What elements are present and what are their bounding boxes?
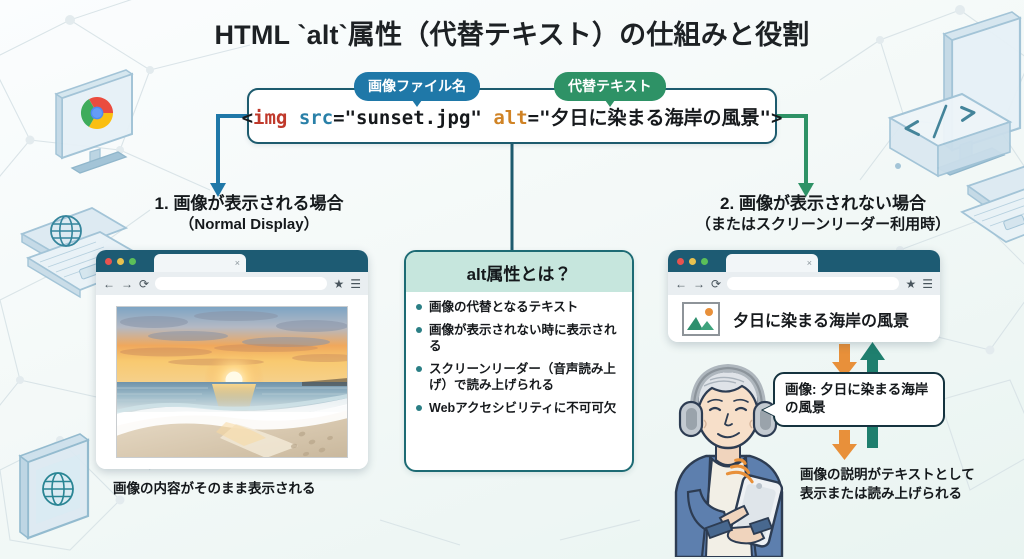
code-space-2 (482, 107, 493, 129)
sunset-beach-photo (116, 306, 348, 458)
reload-icon[interactable]: ⟳ (711, 278, 721, 290)
caption-right: 画像の説明がテキストとして 表示または読み上げられる (800, 466, 975, 503)
menu-icon[interactable]: ☰ (922, 278, 933, 290)
back-icon[interactable]: ← (675, 278, 687, 290)
decor-monitor-chrome (56, 70, 132, 173)
section-right-line2: （またはスクリーンリーダー利用時） (628, 215, 1018, 235)
browser-tab-left[interactable]: × (154, 254, 246, 272)
code-snippet-card: <img src="sunset.jpg" alt="夕日に染まる海岸の風景"> (247, 88, 777, 144)
bookmark-star-icon[interactable]: ★ (333, 278, 344, 290)
decor-code-box (890, 94, 1010, 176)
alt-text-rendered: 夕日に染まる海岸の風景 (733, 307, 909, 331)
window-minimize-dot[interactable] (117, 258, 124, 265)
alt-definition-list: 画像の代替となるテキスト 画像が表示されない時に表示される スクリーンリーダー（… (406, 292, 632, 416)
address-bar[interactable] (727, 277, 899, 290)
browser-toolbar-right: ← → ⟳ ★ ☰ (668, 272, 940, 295)
browser-content-left (96, 295, 368, 469)
window-minimize-dot[interactable] (689, 258, 696, 265)
code-token-tag-name: img (253, 107, 287, 129)
code-token-tag-open: < (242, 107, 253, 129)
list-item: 画像が表示されない時に表示される (415, 322, 623, 355)
list-item: スクリーンリーダー（音声読み上げ）で読み上げられる (415, 361, 623, 394)
back-icon[interactable]: ← (103, 278, 115, 290)
label-pill-alttext: 代替テキスト (554, 72, 666, 101)
section-right-line1: 2. 画像が表示されない場合 (628, 193, 1018, 215)
screen-reader-speech-bubble: 画像: 夕日に染まる海岸の風景 (773, 372, 945, 427)
menu-icon[interactable]: ☰ (350, 278, 361, 290)
list-item: Webアクセシビリティに不可可欠 (415, 400, 623, 417)
arrow-down-orange-2 (832, 430, 857, 460)
section-left-line2: （Normal Display） (84, 215, 414, 235)
section-heading-right: 2. 画像が表示されない場合 （またはスクリーンリーダー利用時） (628, 193, 1018, 235)
label-pill-filename: 画像ファイル名 (354, 72, 480, 101)
window-close-dot[interactable] (677, 258, 684, 265)
code-space-1 (287, 107, 298, 129)
list-item: 画像の代替となるテキスト (415, 299, 623, 316)
section-left-line1: 1. 画像が表示される場合 (84, 193, 414, 215)
section-heading-left: 1. 画像が表示される場合 （Normal Display） (84, 193, 414, 235)
reload-icon[interactable]: ⟳ (139, 278, 149, 290)
window-maximize-dot[interactable] (701, 258, 708, 265)
alt-definition-title: alt属性とは？ (406, 252, 632, 292)
code-token-attr-src: src (299, 107, 333, 129)
browser-content-right: 夕日に染まる海岸の風景 (668, 295, 940, 342)
forward-icon[interactable]: → (121, 278, 133, 290)
browser-titlebar-left: × (96, 250, 368, 272)
infographic-canvas: HTML `alt`属性（代替テキスト）の仕組みと役割 画像ファイル名 代替テキ… (0, 0, 1024, 559)
browser-window-normal: × ← → ⟳ ★ ☰ (96, 250, 368, 469)
alt-definition-card: alt属性とは？ 画像の代替となるテキスト 画像が表示されない時に表示される ス… (404, 250, 634, 472)
caption-right-line1: 画像の説明がテキストとして (800, 466, 975, 485)
code-snippet-line: <img src="sunset.jpg" alt="夕日に染まる海岸の風景"> (242, 103, 783, 130)
bookmark-star-icon[interactable]: ★ (905, 278, 916, 290)
window-close-dot[interactable] (105, 258, 112, 265)
code-token-src-value: ="sunset.jpg" (333, 107, 482, 129)
browser-toolbar-left: ← → ⟳ ★ ☰ (96, 272, 368, 295)
code-token-attr-alt: alt (493, 107, 527, 129)
decor-tablet-globe (20, 434, 88, 538)
browser-tab-right[interactable]: × (726, 254, 818, 272)
broken-image-icon (682, 302, 720, 336)
code-token-tag-close: > (771, 107, 782, 129)
browser-window-no-image: × ← → ⟳ ★ ☰ 夕日に染まる海岸の風景 (668, 250, 940, 342)
browser-titlebar-right: × (668, 250, 940, 272)
code-token-alt-value: ="夕日に染まる海岸の風景" (528, 107, 771, 129)
address-bar[interactable] (155, 277, 327, 290)
tab-close-icon[interactable]: × (235, 258, 240, 268)
caption-right-line2: 表示または読み上げられる (800, 485, 975, 504)
window-maximize-dot[interactable] (129, 258, 136, 265)
forward-icon[interactable]: → (693, 278, 705, 290)
caption-left: 画像の内容がそのまま表示される (113, 480, 316, 499)
tab-close-icon[interactable]: × (807, 258, 812, 268)
page-title: HTML `alt`属性（代替テキスト）の仕組みと役割 (0, 13, 1024, 52)
